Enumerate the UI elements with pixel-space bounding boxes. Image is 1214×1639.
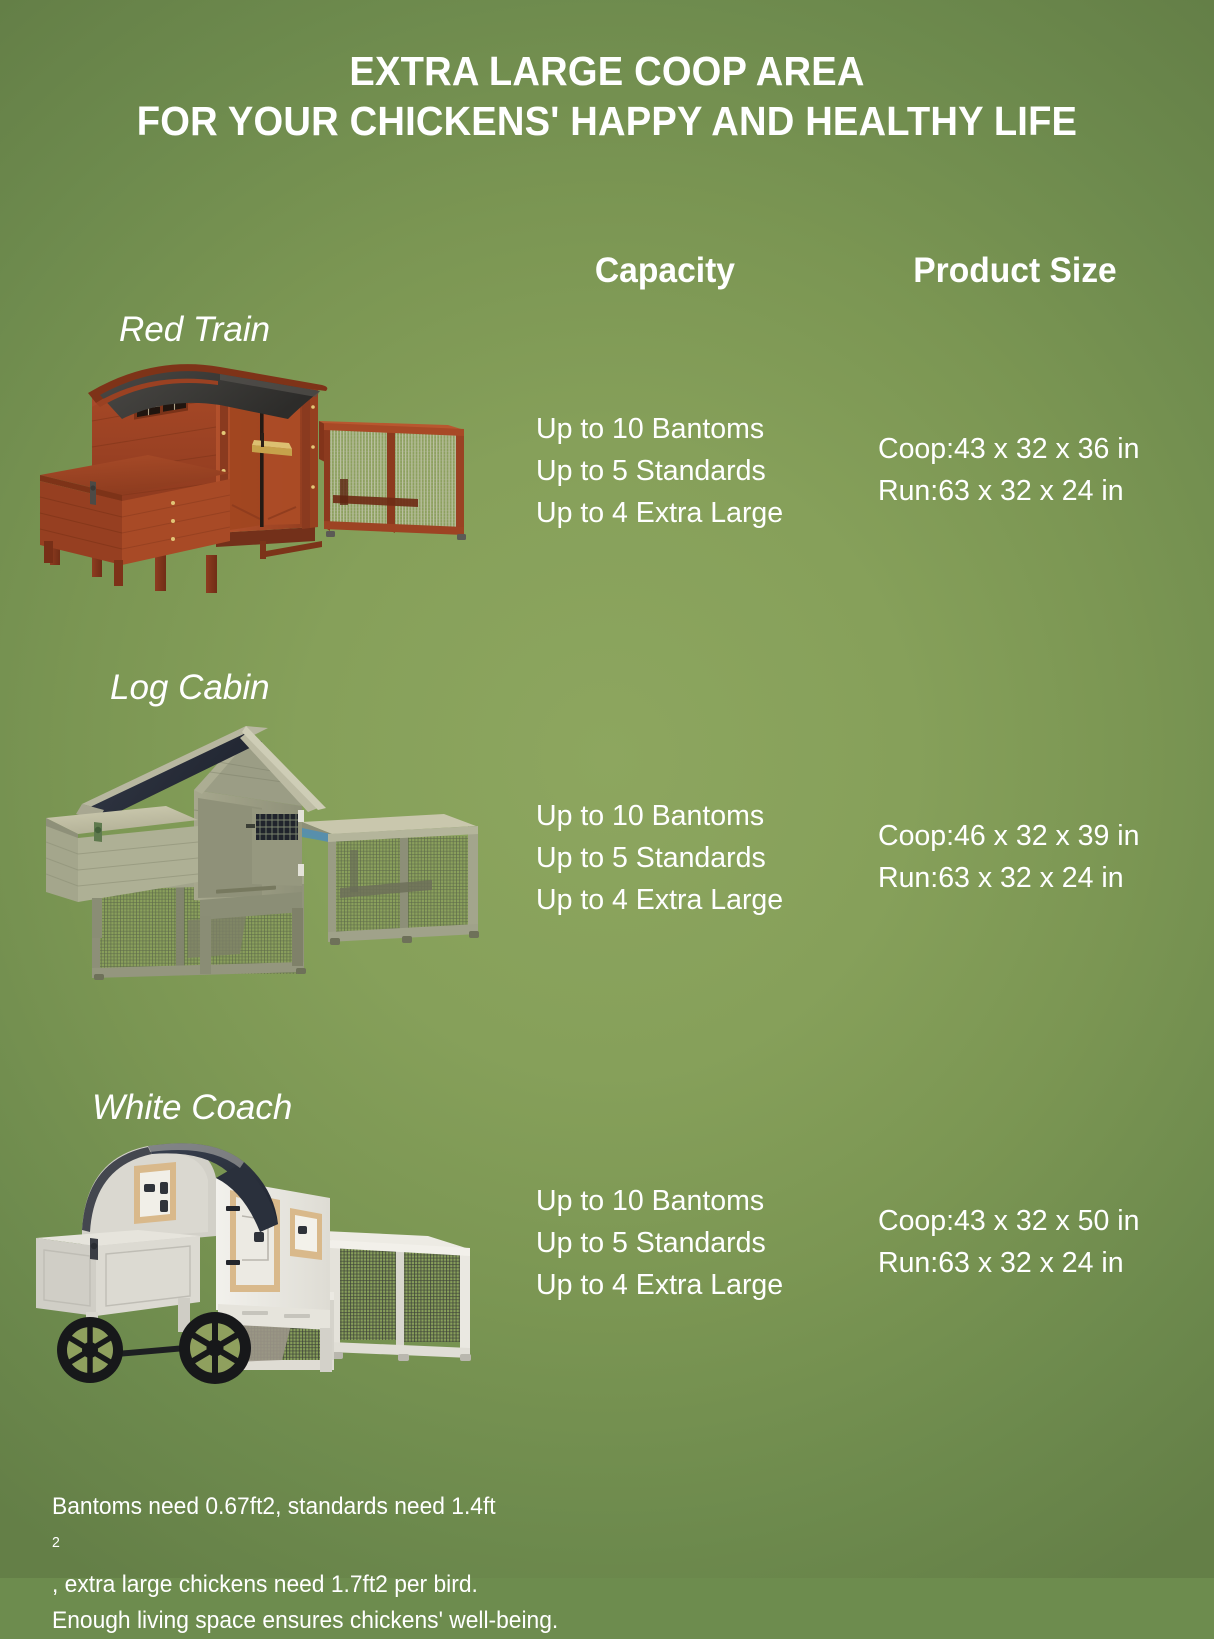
capacity-line: Up to 4 Extra Large	[536, 879, 783, 921]
product-row-log-cabin: Log Cabin	[0, 660, 1214, 1060]
column-header-product-size: Product Size	[913, 251, 1117, 291]
footnote-line-2: Enough living space ensures chickens' we…	[52, 1603, 1097, 1639]
page-title-line2: FOR YOUR CHICKENS' HAPPY AND HEALTHY LIF…	[42, 96, 1171, 146]
capacity-line: Up to 4 Extra Large	[536, 1264, 783, 1306]
column-header-capacity: Capacity	[595, 251, 735, 291]
size-line-run: Run:63 x 32 x 24 in	[878, 857, 1139, 899]
size-list-red-train: Coop:43 x 32 x 36 in Run:63 x 32 x 24 in	[878, 428, 1139, 512]
red-train-coop-illustration	[30, 355, 490, 595]
red-train-run	[319, 421, 466, 540]
footnote-line-1b: , extra large chickens need 1.7ft2 per b…	[52, 1567, 1097, 1603]
product-name-red-train: Red Train	[119, 310, 270, 350]
size-list-white-coach: Coop:43 x 32 x 50 in Run:63 x 32 x 24 in	[878, 1200, 1139, 1284]
capacity-list-log-cabin: Up to 10 Bantoms Up to 5 Standards Up to…	[536, 795, 783, 921]
log-cabin-coop-illustration	[40, 710, 500, 980]
capacity-line: Up to 10 Bantoms	[536, 795, 783, 837]
product-name-log-cabin: Log Cabin	[110, 668, 270, 708]
white-coach-nesting-box	[36, 1230, 200, 1348]
capacity-list-red-train: Up to 10 Bantoms Up to 5 Standards Up to…	[536, 408, 783, 534]
product-row-red-train: Red Train	[0, 300, 1214, 660]
capacity-line: Up to 5 Standards	[536, 1222, 783, 1264]
capacity-line: Up to 10 Bantoms	[536, 1180, 783, 1222]
size-list-log-cabin: Coop:46 x 32 x 39 in Run:63 x 32 x 24 in	[878, 815, 1139, 899]
footnote-superscript: 2	[52, 1535, 60, 1551]
red-train-nesting-box	[40, 455, 230, 586]
capacity-line: Up to 5 Standards	[536, 837, 783, 879]
log-cabin-run	[302, 814, 479, 945]
capacity-list-white-coach: Up to 10 Bantoms Up to 5 Standards Up to…	[536, 1180, 783, 1306]
footnote-line-1: Bantoms need 0.67ft2, standards need 1.4…	[52, 1489, 1097, 1603]
size-line-run: Run:63 x 32 x 24 in	[878, 470, 1139, 512]
capacity-line: Up to 10 Bantoms	[536, 408, 783, 450]
capacity-line: Up to 5 Standards	[536, 450, 783, 492]
footnote-line-1a: Bantoms need 0.67ft2, standards need 1.4…	[52, 1489, 1097, 1525]
size-line-coop: Coop:43 x 32 x 50 in	[878, 1200, 1139, 1242]
capacity-line: Up to 4 Extra Large	[536, 492, 783, 534]
size-line-coop: Coop:46 x 32 x 39 in	[878, 815, 1139, 857]
product-row-white-coach: White Coach	[0, 1060, 1214, 1440]
page-title-line1: EXTRA LARGE COOP AREA	[349, 48, 864, 94]
page-title: EXTRA LARGE COOP AREA FOR YOUR CHICKENS'…	[42, 46, 1171, 146]
size-line-run: Run:63 x 32 x 24 in	[878, 1242, 1139, 1284]
white-coach-coop-illustration	[30, 1120, 500, 1390]
size-line-coop: Coop:43 x 32 x 36 in	[878, 428, 1139, 470]
white-coach-wheels	[57, 1312, 251, 1384]
footnote: Bantoms need 0.67ft2, standards need 1.4…	[52, 1489, 1097, 1639]
